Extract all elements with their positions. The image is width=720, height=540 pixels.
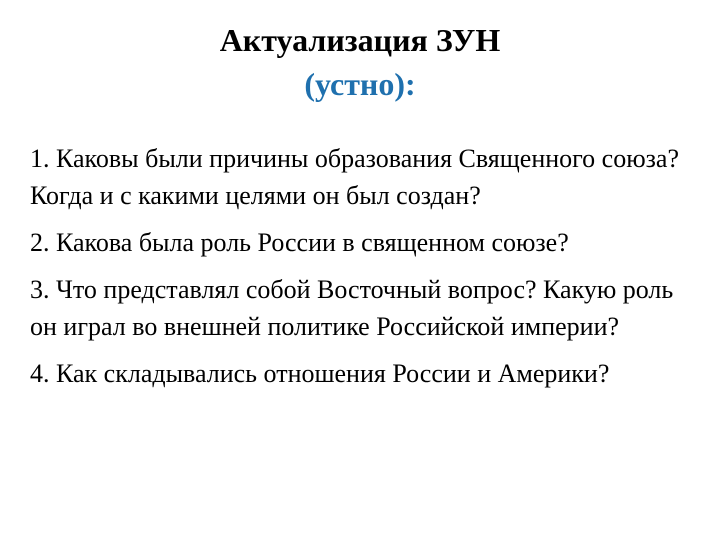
slide-title-line-2: (устно):	[0, 62, 720, 106]
question-item-2: 2. Какова была роль России в священном с…	[30, 224, 706, 261]
question-item-3: 3. Что представлял собой Восточный вопро…	[30, 271, 706, 345]
question-list: 1. Каковы были причины образования Свяще…	[30, 140, 706, 392]
slide-title-block: Актуализация ЗУН (устно):	[0, 18, 720, 106]
slide-title-line-1: Актуализация ЗУН	[0, 18, 720, 62]
slide-canvas: Актуализация ЗУН (устно): 1. Каковы были…	[0, 0, 720, 540]
question-item-4: 4. Как складывались отношения России и А…	[30, 355, 706, 392]
question-item-1: 1. Каковы были причины образования Свяще…	[30, 140, 706, 214]
